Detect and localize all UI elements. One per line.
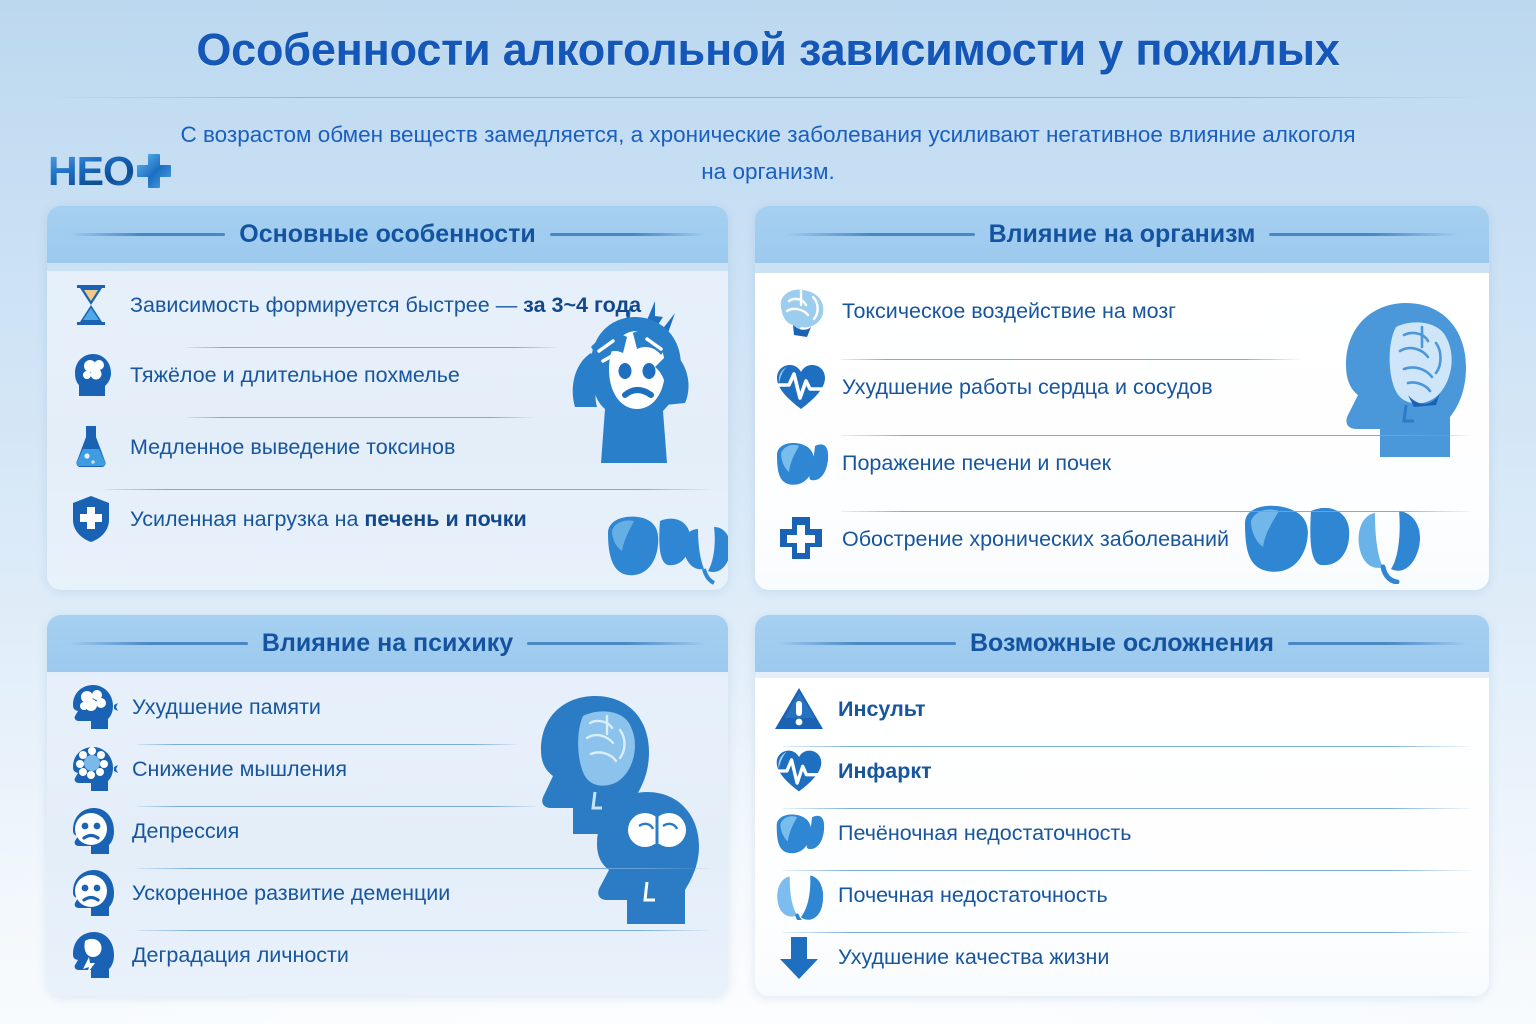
- list-item[interactable]: Ухудшение работы сердца и сосудов: [755, 349, 1489, 425]
- medical-cross-icon: [773, 513, 829, 565]
- header-rule-right: [527, 642, 706, 645]
- list-item-label: Зависимость формируется быстрее — за 3~4…: [130, 293, 641, 318]
- list-item[interactable]: Инфаркт: [755, 740, 1489, 802]
- list-item[interactable]: Токсическое воздействие на мозг: [755, 273, 1489, 349]
- list-item[interactable]: Депрессия: [47, 800, 728, 862]
- list-item-label: Поражение печени и почек: [842, 451, 1111, 476]
- header-rule-right: [1288, 642, 1467, 645]
- list-item[interactable]: Ухудшение качества жизни: [755, 926, 1489, 988]
- header-rule-right: [1269, 233, 1459, 236]
- list-item[interactable]: Усиленная нагрузка на печень и почки: [47, 483, 728, 555]
- kidney-icon: [773, 870, 825, 920]
- feature-list: Ухудшение памяти Снижение мышления: [47, 676, 728, 986]
- header-rule-left: [69, 233, 225, 236]
- list-item[interactable]: Медленное выведение токсинов: [47, 411, 728, 483]
- shield-cross-icon: [65, 493, 117, 545]
- list-item-label: Ухудшение работы сердца и сосудов: [842, 375, 1213, 400]
- logo-text: НЕО: [48, 151, 134, 192]
- card-body: Зависимость формируется быстрее — за 3~4…: [47, 271, 728, 590]
- head-sad-face-icon: [65, 805, 119, 857]
- list-item[interactable]: Зависимость формируется быстрее — за 3~4…: [47, 271, 728, 339]
- list-item[interactable]: Печёночная недостаточность: [755, 802, 1489, 864]
- list-item-label: Инфаркт: [838, 759, 932, 784]
- head-memory-icon: [65, 681, 119, 733]
- list-item-label: Ухудшение качества жизни: [838, 945, 1109, 970]
- head-dementia-icon: [65, 867, 119, 919]
- logo: НЕО: [48, 148, 171, 194]
- list-item[interactable]: Инсульт: [755, 678, 1489, 740]
- logo-plus-icon: [137, 154, 171, 188]
- card-main-features: Основные особенности: [47, 206, 728, 590]
- list-item[interactable]: Деградация личности: [47, 924, 728, 986]
- card-header: Основные особенности: [47, 206, 728, 263]
- card-header: Возможные осложнения: [755, 615, 1489, 672]
- list-item[interactable]: Ускоренное развитие деменции: [47, 862, 728, 924]
- header-rule-left: [69, 642, 248, 645]
- list-item[interactable]: Обострение хронических заболеваний: [755, 501, 1489, 577]
- card-title: Влияние на организм: [989, 220, 1256, 249]
- feature-list: Токсическое воздействие на мозг Ухудшени…: [755, 273, 1489, 577]
- header-rule-left: [785, 233, 975, 236]
- list-item-label: Тяжёлое и длительное похмелье: [130, 363, 460, 388]
- down-arrow-icon: [773, 932, 825, 982]
- card-body: Инсульт Инфаркт Печёночная недостаточн: [755, 678, 1489, 996]
- feature-list: Зависимость формируется быстрее — за 3~4…: [47, 271, 728, 555]
- head-degradation-icon: [65, 929, 119, 981]
- heart-pulse-icon: [773, 746, 825, 796]
- list-item[interactable]: Почечная недостаточность: [755, 864, 1489, 926]
- list-item[interactable]: Тяжёлое и длительное похмелье: [47, 339, 728, 411]
- warning-triangle-icon: [773, 684, 825, 734]
- list-item-label: Токсическое воздействие на мозг: [842, 299, 1176, 324]
- feature-list: Инсульт Инфаркт Печёночная недостаточн: [755, 678, 1489, 988]
- list-item-label: Ускоренное развитие деменции: [132, 881, 450, 906]
- list-item[interactable]: Поражение печени и почек: [755, 425, 1489, 501]
- card-body: Ухудшение памяти Снижение мышления: [47, 676, 728, 996]
- liver-icon: [773, 808, 825, 858]
- card-header: Влияние на психику: [47, 615, 728, 672]
- card-psyche-impact: Влияние на психику: [47, 615, 728, 996]
- list-item-label: Снижение мышления: [132, 757, 347, 782]
- card-title: Возможные осложнения: [970, 629, 1274, 658]
- list-item-label: Депрессия: [132, 819, 239, 844]
- head-thinking-icon: [65, 743, 119, 795]
- card-title: Влияние на психику: [262, 629, 513, 658]
- list-item-label: Медленное выведение токсинов: [130, 435, 455, 460]
- page-subtitle: С возрастом обмен веществ замедляется, а…: [178, 116, 1358, 190]
- list-item-label: Деградация личности: [132, 943, 349, 968]
- card-title: Основные особенности: [239, 220, 536, 249]
- head-hangover-icon: [65, 349, 117, 401]
- list-item-label: Усиленная нагрузка на печень и почки: [130, 507, 527, 532]
- hourglass-icon: [65, 279, 117, 331]
- list-item-label: Обострение хронических заболеваний: [842, 527, 1229, 552]
- card-complications: Возможные осложнения Инсульт: [755, 615, 1489, 996]
- flask-icon: [65, 421, 117, 473]
- list-item-label: Инсульт: [838, 697, 926, 722]
- list-item[interactable]: Ухудшение памяти: [47, 676, 728, 738]
- list-item-label: Печёночная недостаточность: [838, 821, 1131, 846]
- page-title: Особенности алкогольной зависимости у по…: [0, 24, 1536, 76]
- card-body: Токсическое воздействие на мозг Ухудшени…: [755, 273, 1489, 590]
- heart-pulse-icon: [773, 361, 829, 413]
- title-divider: [48, 97, 1488, 98]
- liver-icon: [773, 437, 829, 489]
- brain-icon: [773, 285, 829, 337]
- card-body-impact: Влияние на организм: [755, 206, 1489, 590]
- list-item-label: Почечная недостаточность: [838, 883, 1108, 908]
- card-header: Влияние на организм: [755, 206, 1489, 263]
- list-item-label: Ухудшение памяти: [132, 695, 321, 720]
- header-rule-left: [777, 642, 956, 645]
- header-rule-right: [550, 233, 706, 236]
- list-item[interactable]: Снижение мышления: [47, 738, 728, 800]
